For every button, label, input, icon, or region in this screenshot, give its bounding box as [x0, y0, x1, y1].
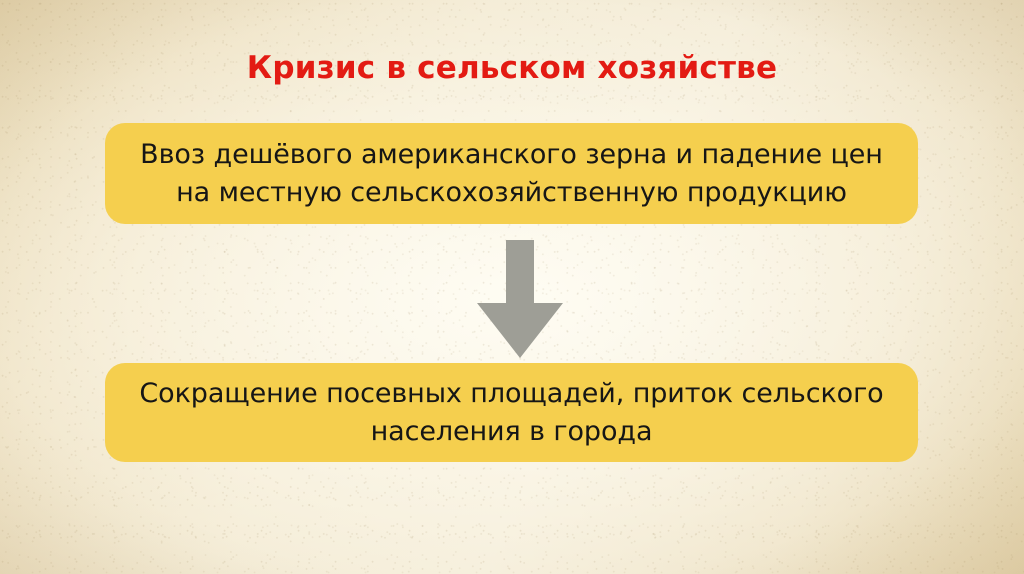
- cause-box-text: Ввоз дешёвого американского зерна и паде…: [140, 136, 883, 212]
- consequence-box-line-2: населения в города: [371, 416, 653, 447]
- consequence-box: Сокращение посевных площадей, приток сел…: [105, 363, 918, 462]
- arrow-down-icon: [477, 240, 563, 358]
- cause-box-line-2: на местную сельскохозяйственную продукци…: [176, 177, 847, 208]
- consequence-box-line-1: Сокращение посевных площадей, приток сел…: [139, 378, 883, 409]
- cause-box: Ввоз дешёвого американского зерна и паде…: [105, 123, 918, 224]
- consequence-box-text: Сокращение посевных площадей, приток сел…: [139, 375, 883, 451]
- cause-box-line-1: Ввоз дешёвого американского зерна и паде…: [140, 139, 883, 170]
- slide-canvas: Кризис в сельском хозяйстве Ввоз дешёвог…: [0, 0, 1024, 574]
- slide-title: Кризис в сельском хозяйстве: [0, 49, 1024, 87]
